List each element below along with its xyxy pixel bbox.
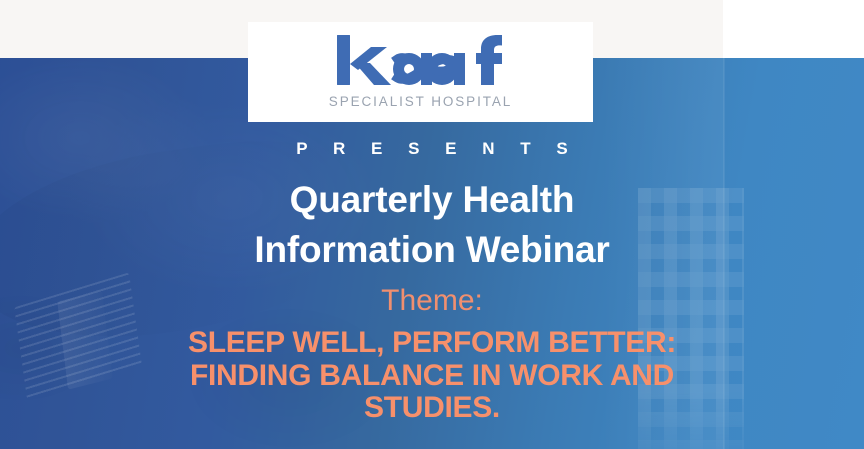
theme-headline-line-2: FINDING BALANCE IN WORK AND (0, 360, 864, 393)
webinar-title-line-1: Quarterly Health (0, 175, 864, 225)
theme-label: Theme: (0, 284, 864, 317)
theme-headline-line-1: SLEEP WELL, PERFORM BETTER: (0, 327, 864, 360)
webinar-title-line-2: Information Webinar (0, 225, 864, 275)
logo-tagline: SPECIALIST HOSPITAL (329, 94, 512, 109)
theme-headline-line-3: STUDIES. (0, 392, 864, 425)
webinar-flyer: SPECIALIST HOSPITAL P R E S E N T S Quar… (0, 0, 864, 449)
theme-headline: SLEEP WELL, PERFORM BETTER: FINDING BALA… (0, 327, 864, 425)
kaaf-logo-icon (335, 35, 507, 93)
logo-card: SPECIALIST HOSPITAL (248, 22, 593, 122)
webinar-title: Quarterly Health Information Webinar (0, 175, 864, 275)
flyer-content: P R E S E N T S Quarterly Health Informa… (0, 122, 864, 425)
presents-label: P R E S E N T S (0, 139, 864, 159)
top-band-right (723, 0, 864, 58)
